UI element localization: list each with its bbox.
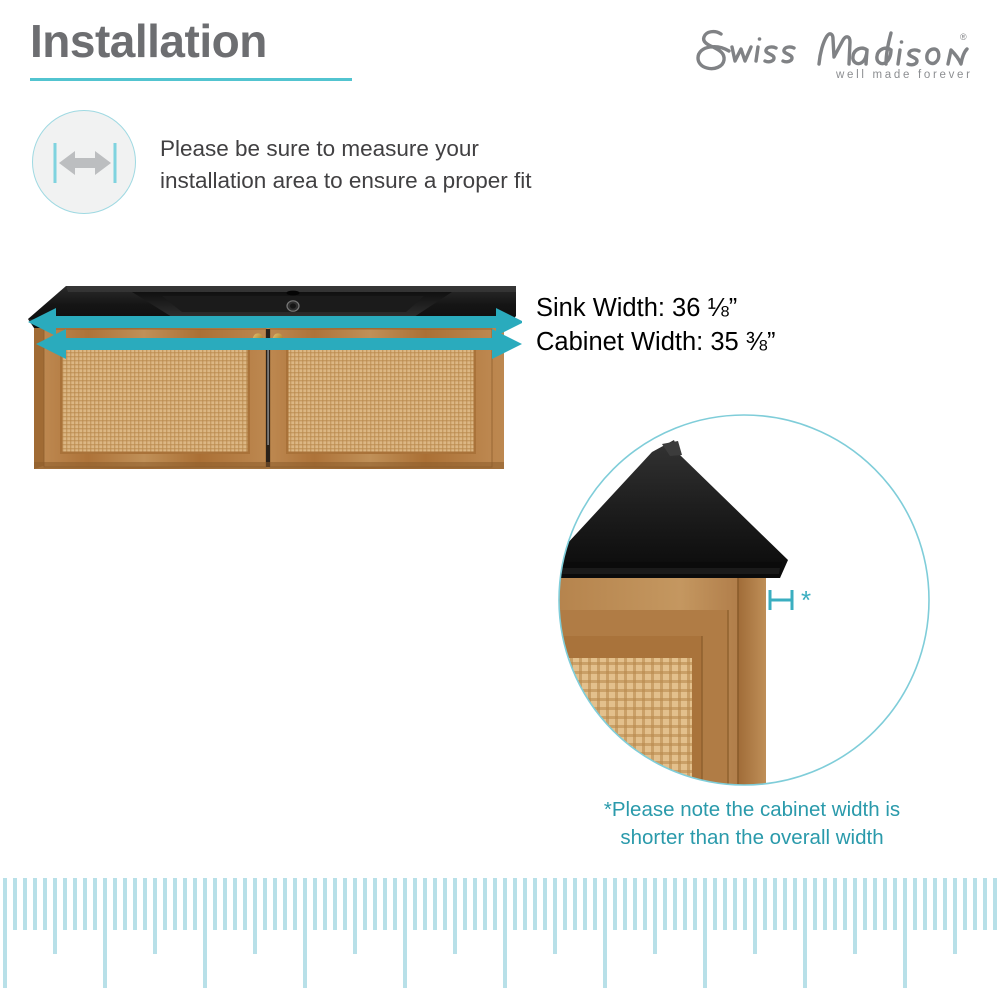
ruler-tick <box>623 878 627 930</box>
ruler-tick <box>423 878 427 930</box>
ruler-tick <box>973 878 977 930</box>
footnote-line-1: *Please note the cabinet width is <box>552 796 952 824</box>
ruler-tick <box>343 878 347 930</box>
ruler-tick <box>193 878 197 930</box>
ruler-tick <box>703 878 707 988</box>
ruler-tick <box>573 878 577 930</box>
ruler-tick <box>383 878 387 930</box>
double-arrow-measure-icon <box>33 111 137 215</box>
installation-page: Installation <box>0 0 1000 1000</box>
ruler-tick <box>553 878 557 954</box>
ruler-tick <box>373 878 377 930</box>
ruler-tick <box>243 878 247 930</box>
ruler-tick <box>993 878 997 930</box>
ruler-tick <box>983 878 987 930</box>
ruler-tick <box>413 878 417 930</box>
ruler-decoration <box>0 878 1000 1000</box>
ruler-tick <box>393 878 397 930</box>
ruler-tick <box>503 878 507 988</box>
brand-logo: ® well made forever <box>688 20 974 86</box>
title-underline <box>30 78 352 81</box>
ruler-tick <box>33 878 37 930</box>
ruler-tick <box>733 878 737 930</box>
detail-contents <box>552 410 952 795</box>
ruler-tick <box>793 878 797 930</box>
ruler-tick <box>353 878 357 954</box>
ruler-tick <box>163 878 167 930</box>
ruler-tick <box>543 878 547 930</box>
ruler-tick <box>513 878 517 930</box>
ruler-tick <box>53 878 57 954</box>
brand-tagline: well made forever <box>835 69 973 81</box>
sink-width-label: Sink Width: 36 ⅛” <box>536 292 776 326</box>
ruler-tick <box>913 878 917 930</box>
ruler-tick <box>683 878 687 930</box>
ruler-tick <box>213 878 217 930</box>
ruler-tick <box>113 878 117 930</box>
ruler-tick <box>133 878 137 930</box>
ruler-tick <box>563 878 567 930</box>
ruler-tick <box>83 878 87 930</box>
ruler-tick <box>363 878 367 930</box>
ruler-tick <box>253 878 257 954</box>
ruler-tick <box>103 878 107 988</box>
ruler-tick <box>313 878 317 930</box>
detail-cane-panel <box>552 658 692 795</box>
ruler-tick <box>853 878 857 954</box>
cabinet-width-label: Cabinet Width: 35 ⅜” <box>536 326 776 360</box>
ruler-tick <box>653 878 657 954</box>
ruler-tick <box>263 878 267 930</box>
marker-asterisk: * <box>801 585 811 615</box>
cane-panel-right <box>289 345 474 452</box>
note-line-1: Please be sure to measure your <box>160 133 600 165</box>
note-line-2: installation area to ensure a proper fit <box>160 165 600 197</box>
ruler-tick <box>323 878 327 930</box>
ruler-tick <box>153 878 157 954</box>
ruler-tick <box>43 878 47 930</box>
measure-note-icon-circle <box>32 110 136 214</box>
ruler-tick <box>923 878 927 930</box>
measure-note-text: Please be sure to measure your installat… <box>160 133 600 197</box>
ruler-tick <box>963 878 967 930</box>
ruler-tick <box>743 878 747 930</box>
ruler-tick <box>533 878 537 930</box>
ruler-tick <box>813 878 817 930</box>
ruler-tick <box>123 878 127 930</box>
ruler-tick <box>583 878 587 930</box>
cabinet-width-footnote: *Please note the cabinet width is shorte… <box>552 796 952 851</box>
ruler-tick <box>863 878 867 930</box>
ruler-tick <box>453 878 457 954</box>
ruler-tick <box>433 878 437 930</box>
ruler-tick <box>13 878 17 930</box>
ruler-tick <box>643 878 647 930</box>
ruler-tick <box>443 878 447 930</box>
footnote-line-2: shorter than the overall width <box>552 824 952 852</box>
ruler-tick <box>223 878 227 930</box>
ruler-tick <box>893 878 897 930</box>
ruler-tick <box>933 878 937 930</box>
ruler-tick <box>63 878 67 930</box>
vanity-illustration <box>22 272 522 600</box>
ruler-tick <box>613 878 617 930</box>
page-title: Installation <box>30 18 267 64</box>
ruler-tick <box>903 878 907 988</box>
ruler-tick <box>753 878 757 954</box>
ruler-tick <box>943 878 947 930</box>
ruler-tick <box>783 878 787 930</box>
ruler-tick <box>23 878 27 930</box>
ruler-tick <box>633 878 637 930</box>
ruler-tick <box>173 878 177 930</box>
ruler-tick <box>473 878 477 930</box>
ruler-tick <box>953 878 957 954</box>
corner-detail-circle: * <box>552 410 952 795</box>
ruler-tick <box>883 878 887 930</box>
ruler-tick <box>293 878 297 930</box>
ruler-tick <box>713 878 717 930</box>
ruler-tick <box>843 878 847 930</box>
cane-panel-left <box>63 345 248 452</box>
ruler-tick <box>3 878 7 988</box>
ruler-tick <box>333 878 337 930</box>
ruler-tick <box>463 878 467 930</box>
ruler-tick <box>593 878 597 930</box>
ruler-tick <box>603 878 607 988</box>
ruler-tick <box>483 878 487 930</box>
ruler-tick <box>283 878 287 930</box>
ruler-tick <box>183 878 187 930</box>
registered-mark: ® <box>960 32 967 42</box>
ruler-tick <box>873 878 877 930</box>
ruler-tick <box>663 878 667 930</box>
dimension-callouts: Sink Width: 36 ⅛” Cabinet Width: 35 ⅜” <box>536 292 776 360</box>
ruler-tick <box>203 878 207 988</box>
ruler-tick <box>403 878 407 988</box>
ruler-tick <box>273 878 277 930</box>
ruler-tick <box>803 878 807 988</box>
ruler-tick <box>773 878 777 930</box>
ruler-tick <box>73 878 77 930</box>
ruler-tick <box>823 878 827 930</box>
ruler-tick <box>763 878 767 930</box>
ruler-tick <box>693 878 697 930</box>
ruler-tick <box>493 878 497 930</box>
ruler-tick <box>93 878 97 930</box>
ruler-tick <box>523 878 527 930</box>
ruler-tick <box>673 878 677 930</box>
ruler-tick <box>233 878 237 930</box>
ruler-tick <box>833 878 837 930</box>
ruler-tick <box>143 878 147 930</box>
ruler-tick <box>303 878 307 988</box>
ruler-tick <box>723 878 727 930</box>
